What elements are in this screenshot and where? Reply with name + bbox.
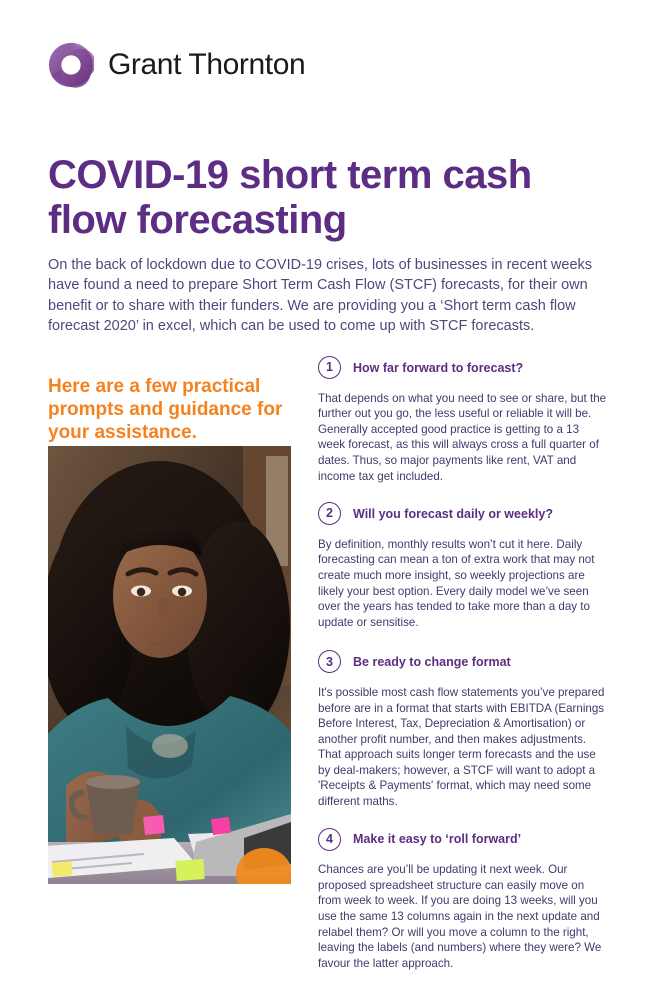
intro-paragraph: On the back of lockdown due to COVID-19 … bbox=[48, 255, 596, 337]
document-page: Grant Thornton COVID-19 short term cash … bbox=[0, 0, 645, 914]
guidance-item: 1 How far forward to forecast? That depe… bbox=[318, 356, 608, 484]
guidance-item-header: 3 Be ready to change format bbox=[318, 650, 608, 673]
guidance-item-title: How far forward to forecast? bbox=[353, 361, 523, 375]
guidance-item-body: That depends on what you need to see or … bbox=[318, 391, 608, 485]
guidance-item: 2 Will you forecast daily or weekly? By … bbox=[318, 502, 608, 630]
guidance-item-title: Be ready to change format bbox=[353, 655, 511, 669]
guidance-item: 3 Be ready to change format It's possibl… bbox=[318, 650, 608, 809]
grant-thornton-swirl-icon bbox=[48, 42, 94, 88]
step-number-badge: 4 bbox=[318, 828, 341, 851]
section-subheading: Here are a few practical prompts and gui… bbox=[48, 375, 288, 444]
guidance-item-body: It's possible most cash flow statements … bbox=[318, 685, 608, 810]
step-number-badge: 2 bbox=[318, 502, 341, 525]
hero-photo bbox=[48, 446, 291, 884]
guidance-item: 4 Make it easy to ‘roll forward’ Chances… bbox=[318, 828, 608, 972]
step-number-badge: 1 bbox=[318, 356, 341, 379]
guidance-item-title: Will you forecast daily or weekly? bbox=[353, 507, 553, 521]
guidance-item-header: 2 Will you forecast daily or weekly? bbox=[318, 502, 608, 525]
guidance-item-title: Make it easy to ‘roll forward’ bbox=[353, 832, 521, 846]
page-title: COVID-19 short term cash flow forecastin… bbox=[48, 153, 608, 243]
guidance-items: 1 How far forward to forecast? That depe… bbox=[318, 356, 608, 987]
step-number-badge: 3 bbox=[318, 650, 341, 673]
guidance-item-body: By definition, monthly results won’t cut… bbox=[318, 537, 608, 631]
guidance-item-header: 1 How far forward to forecast? bbox=[318, 356, 608, 379]
brand-name: Grant Thornton bbox=[108, 50, 305, 80]
guidance-item-header: 4 Make it easy to ‘roll forward’ bbox=[318, 828, 608, 851]
brand-logo: Grant Thornton bbox=[48, 42, 305, 88]
guidance-item-body: Chances are you’ll be updating it next w… bbox=[318, 862, 608, 971]
